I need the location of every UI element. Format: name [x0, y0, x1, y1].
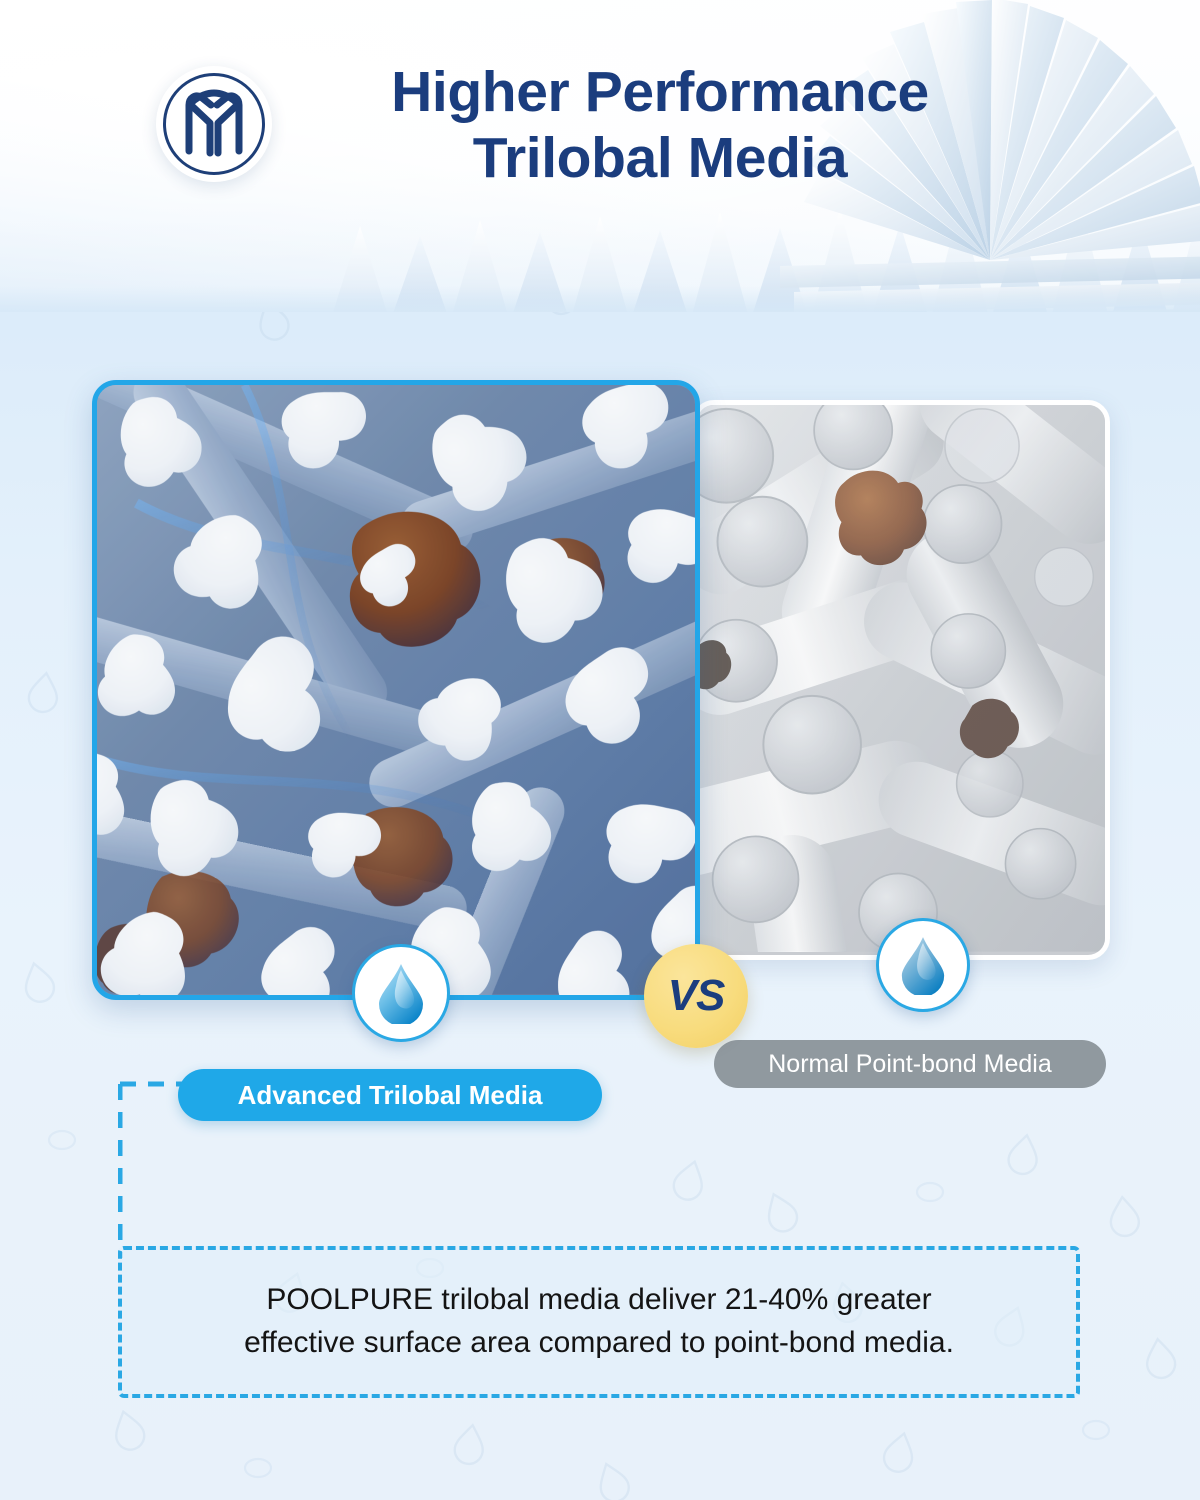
vs-label: VS	[668, 971, 725, 1021]
water-drop-badge-left	[352, 944, 450, 1042]
caption-line-2: effective surface area compared to point…	[244, 1322, 954, 1365]
trilobal-media-image	[97, 385, 695, 995]
header-banner: Higher Performance Trilobal Media	[0, 0, 1200, 312]
vs-badge: VS	[644, 944, 748, 1048]
trilobal-media-label: Advanced Trilobal Media	[178, 1069, 602, 1121]
point-bond-media-panel[interactable]	[692, 400, 1110, 960]
water-drop-badge-right	[876, 918, 970, 1012]
point-bond-media-label: Normal Point-bond Media	[714, 1040, 1106, 1088]
trilobal-monogram-icon	[183, 89, 245, 159]
trilobal-media-panel[interactable]	[92, 380, 700, 1000]
title-line-2: Trilobal Media	[310, 128, 1010, 188]
point-bond-media-label-text: Normal Point-bond Media	[768, 1050, 1051, 1079]
caption-box: POOLPURE trilobal media deliver 21-40% g…	[118, 1246, 1080, 1398]
title-line-1: Higher Performance	[310, 62, 1010, 122]
brand-logo	[156, 66, 272, 182]
trilobal-media-label-text: Advanced Trilobal Media	[238, 1080, 543, 1111]
comparison-section: VS	[0, 312, 1200, 1142]
page-title: Higher Performance Trilobal Media	[310, 62, 1010, 189]
water-drop-icon	[375, 962, 427, 1024]
caption-line-1: POOLPURE trilobal media deliver 21-40% g…	[266, 1279, 931, 1322]
header-bottom-fade	[0, 286, 1200, 312]
logo-ring	[163, 73, 265, 175]
infographic-poster: Higher Performance Trilobal Media	[0, 0, 1200, 1500]
point-bond-media-image	[697, 405, 1105, 952]
water-drop-icon	[898, 935, 948, 995]
